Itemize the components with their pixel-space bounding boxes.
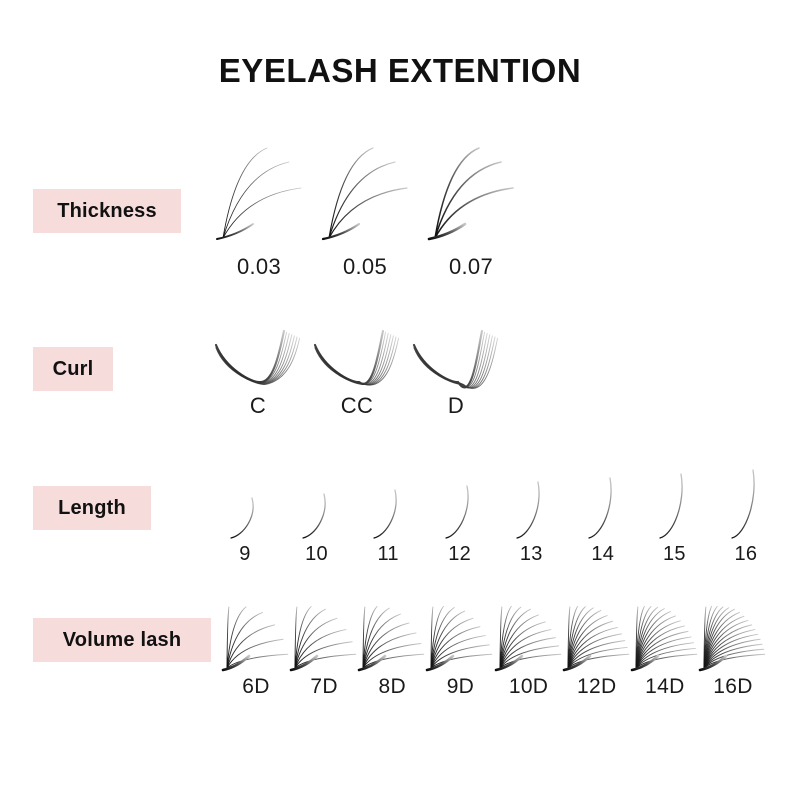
lash-single-curve-icon — [443, 468, 477, 542]
curl-samples: CCCD — [212, 325, 502, 417]
category-label-length: Length — [33, 486, 151, 530]
length-caption: 10 — [305, 544, 328, 564]
sample-item: 9 — [228, 468, 262, 564]
lash-fan-3-strand-icon — [215, 140, 303, 248]
sample-item: 16D — [699, 588, 767, 697]
volume-lash-caption: 14D — [645, 676, 684, 697]
lash-single-curve-icon — [371, 468, 405, 542]
sample-item: 14 — [586, 468, 620, 564]
lash-volume-fan-icon — [631, 588, 699, 674]
lash-volume-fan-icon — [495, 588, 563, 674]
curl-caption: CC — [341, 395, 373, 417]
lash-single-curve-icon — [729, 468, 763, 542]
lash-volume-fan-icon — [358, 588, 426, 674]
lash-fan-3-strand-icon — [427, 140, 515, 248]
sample-item: 11 — [371, 468, 405, 564]
volume-lash-caption: 7D — [310, 676, 337, 697]
volume-lash-caption: 9D — [447, 676, 474, 697]
length-caption: 11 — [377, 544, 398, 564]
volume-lash-caption: 6D — [242, 676, 269, 697]
thickness-caption: 0.03 — [237, 256, 281, 278]
thickness-row: Thickness 0.030.050.07 — [0, 140, 800, 285]
length-caption: 12 — [448, 544, 471, 564]
volume-lash-row: Volume lash 6D7D8D9D10D12D14D16D — [0, 588, 800, 708]
sample-item: 12D — [563, 588, 631, 697]
lash-volume-fan-icon — [699, 588, 767, 674]
length-caption: 15 — [663, 544, 686, 564]
volume-lash-caption: 12D — [577, 676, 616, 697]
lash-volume-fan-icon — [426, 588, 494, 674]
lash-single-curve-icon — [657, 468, 691, 542]
sample-item: 0.07 — [427, 140, 515, 278]
sample-item: 16 — [729, 468, 763, 564]
page-title: EYELASH EXTENTION — [0, 52, 800, 90]
category-label-thickness: Thickness — [33, 189, 181, 233]
lash-volume-fan-icon — [290, 588, 358, 674]
sample-item: 13 — [514, 468, 548, 564]
lash-fan-3-strand-icon — [321, 140, 409, 248]
length-caption: 16 — [735, 544, 758, 564]
lash-single-curve-icon — [514, 468, 548, 542]
sample-item: 10 — [300, 468, 334, 564]
length-caption: 14 — [591, 544, 614, 564]
sample-item: 15 — [657, 468, 691, 564]
category-label-curl: Curl — [33, 347, 113, 391]
thickness-caption: 0.07 — [449, 256, 493, 278]
sample-item: 9D — [426, 588, 494, 697]
curl-caption: C — [250, 395, 266, 417]
lash-curl-icon — [410, 325, 502, 391]
length-caption: 9 — [239, 544, 250, 564]
lash-volume-fan-icon — [222, 588, 290, 674]
volume-lash-caption: 16D — [713, 676, 752, 697]
sample-item: 12 — [443, 468, 477, 564]
lash-single-curve-icon — [586, 468, 620, 542]
sample-item: 10D — [495, 588, 563, 697]
category-label-volume-lash: Volume lash — [33, 618, 211, 662]
curl-row: Curl CCCD — [0, 325, 800, 425]
lash-curl-icon — [212, 325, 304, 391]
curl-caption: D — [448, 395, 464, 417]
sample-item: D — [410, 325, 502, 417]
sample-item: 6D — [222, 588, 290, 697]
volume-lash-caption: 8D — [379, 676, 406, 697]
thickness-samples: 0.030.050.07 — [215, 140, 515, 278]
volume-lash-samples: 6D7D8D9D10D12D14D16D — [222, 588, 767, 697]
sample-item: CC — [311, 325, 403, 417]
lash-single-curve-icon — [228, 468, 262, 542]
length-caption: 13 — [520, 544, 543, 564]
lash-curl-icon — [311, 325, 403, 391]
volume-lash-caption: 10D — [509, 676, 548, 697]
sample-item: 8D — [358, 588, 426, 697]
sample-item: C — [212, 325, 304, 417]
thickness-caption: 0.05 — [343, 256, 387, 278]
length-row: Length 910111213141516 — [0, 468, 800, 568]
sample-item: 14D — [631, 588, 699, 697]
sample-item: 7D — [290, 588, 358, 697]
lash-volume-fan-icon — [563, 588, 631, 674]
eyelash-extension-poster: EYELASH EXTENTION Thickness 0.030.050.07… — [0, 0, 800, 800]
length-samples: 910111213141516 — [228, 468, 763, 564]
lash-single-curve-icon — [300, 468, 334, 542]
sample-item: 0.03 — [215, 140, 303, 278]
sample-item: 0.05 — [321, 140, 409, 278]
